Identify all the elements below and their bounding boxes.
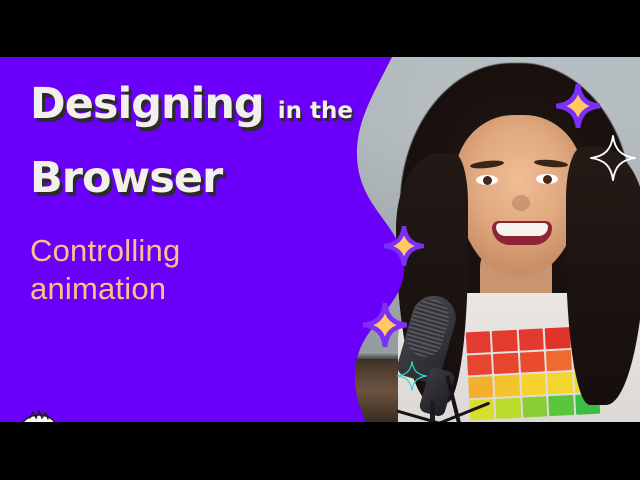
swatch-cell — [545, 327, 570, 349]
swatch-cell — [494, 375, 519, 397]
nose — [512, 195, 530, 211]
swatch-cell — [548, 394, 573, 416]
teeth — [496, 223, 548, 236]
title-line-1: Designing in the — [30, 83, 353, 126]
video-thumbnail: Designing in the Browser Controlling ani… — [0, 0, 640, 480]
letterbox-bar-top — [0, 0, 640, 57]
title-second-word: Browser — [30, 153, 222, 203]
swatch-cell — [496, 397, 521, 419]
swatch-cell — [521, 373, 546, 395]
thumbnail-stage: Designing in the Browser Controlling ani… — [0, 57, 640, 422]
dog-mascot-logo — [6, 409, 72, 422]
letterbox-bar-bottom — [0, 422, 640, 480]
sparkle-wall-right-icon — [590, 135, 636, 181]
sparkle-shirt-left-icon — [363, 303, 407, 347]
swatch-cell — [493, 352, 518, 374]
sparkle-hair-right-icon — [556, 84, 600, 128]
swatch-cell — [492, 330, 517, 352]
title-block: Designing in the Browser Controlling ani… — [0, 57, 440, 422]
sparkle-desk-teal-icon — [397, 361, 427, 391]
swatch-cell — [467, 354, 492, 376]
eye-right — [536, 174, 558, 184]
subtitle-line-1: Controlling — [30, 232, 180, 270]
title-main-word: Designing — [30, 83, 264, 126]
title-line-2: Browser — [30, 157, 222, 200]
subtitle-line-2: animation — [30, 270, 180, 308]
swatch-cell — [522, 396, 547, 418]
sparkle-mic-top-icon — [384, 226, 424, 266]
swatch-cell — [546, 350, 571, 372]
title-small-words: in the — [278, 100, 353, 123]
eye-left — [476, 175, 498, 185]
swatch-cell — [466, 331, 491, 353]
swatch-cell — [547, 372, 572, 394]
swatch-cell — [468, 376, 493, 398]
hair-strand-right — [566, 147, 640, 405]
subtitle: Controlling animation — [30, 232, 180, 308]
swatch-cell — [520, 351, 545, 373]
swatch-cell — [519, 328, 544, 350]
